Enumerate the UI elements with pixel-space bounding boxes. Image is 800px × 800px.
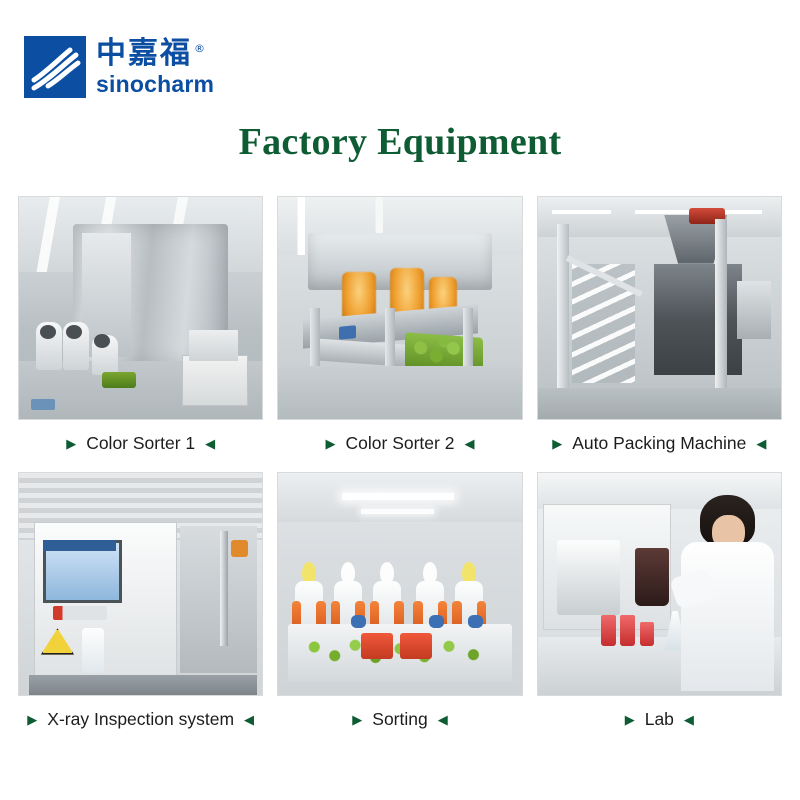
right-marker-icon: ◀ [438, 713, 448, 726]
left-marker-icon: ▶ [326, 437, 336, 450]
gallery-caption: ▶ Sorting ◀ [352, 696, 447, 742]
gallery-item: ▶ Sorting ◀ [277, 472, 522, 742]
caption-text: Auto Packing Machine [572, 433, 746, 454]
color-sorter-1-photo [18, 196, 263, 420]
left-marker-icon: ▶ [27, 713, 37, 726]
right-marker-icon: ◀ [464, 437, 474, 450]
left-marker-icon: ▶ [66, 437, 76, 450]
caption-text: Sorting [372, 709, 427, 730]
right-marker-icon: ◀ [684, 713, 694, 726]
gallery-caption: ▶ Color Sorter 1 ◀ [66, 420, 215, 466]
xray-inspection-system-photo [18, 472, 263, 696]
right-marker-icon: ◀ [244, 713, 254, 726]
caption-text: X-ray Inspection system [47, 709, 234, 730]
sinocharm-wave-logo-icon [24, 36, 86, 98]
caption-text: Color Sorter 1 [86, 433, 195, 454]
gallery-caption: ▶ Auto Packing Machine ◀ [552, 420, 766, 466]
gallery-item: ▶ Lab ◀ [537, 472, 782, 742]
brand-name-cn-text: 中嘉福 [96, 36, 192, 71]
gallery-caption: ▶ Lab ◀ [625, 696, 694, 742]
gallery-item: ▶ Auto Packing Machine ◀ [537, 196, 782, 466]
right-marker-icon: ◀ [205, 437, 215, 450]
left-marker-icon: ▶ [352, 713, 362, 726]
caption-text: Lab [645, 709, 674, 730]
factory-equipment-page: 中嘉福® sinocharm Factory Equipment ▶ Color… [0, 0, 800, 800]
lab-photo [537, 472, 782, 696]
brand-name-en: sinocharm [96, 72, 214, 97]
left-marker-icon: ▶ [552, 437, 562, 450]
brand-text: 中嘉福® sinocharm [96, 36, 214, 97]
gallery-item: ▶ Color Sorter 2 ◀ [277, 196, 522, 466]
auto-packing-machine-photo [537, 196, 782, 420]
color-sorter-2-photo [277, 196, 522, 420]
brand-name-cn: 中嘉福® [96, 38, 214, 70]
sorting-photo [277, 472, 522, 696]
page-title: Factory Equipment [0, 120, 800, 164]
registered-trademark-icon: ® [194, 42, 207, 55]
right-marker-icon: ◀ [756, 437, 766, 450]
gallery-caption: ▶ X-ray Inspection system ◀ [27, 696, 254, 742]
gallery-caption: ▶ Color Sorter 2 ◀ [326, 420, 475, 466]
gallery-item: ▶ X-ray Inspection system ◀ [18, 472, 263, 742]
gallery-item: ▶ Color Sorter 1 ◀ [18, 196, 263, 466]
equipment-gallery-grid: ▶ Color Sorter 1 ◀ ▶ Color Sorter 2 ◀ [18, 196, 782, 742]
left-marker-icon: ▶ [625, 713, 635, 726]
caption-text: Color Sorter 2 [346, 433, 455, 454]
brand-logo: 中嘉福® sinocharm [24, 36, 214, 98]
